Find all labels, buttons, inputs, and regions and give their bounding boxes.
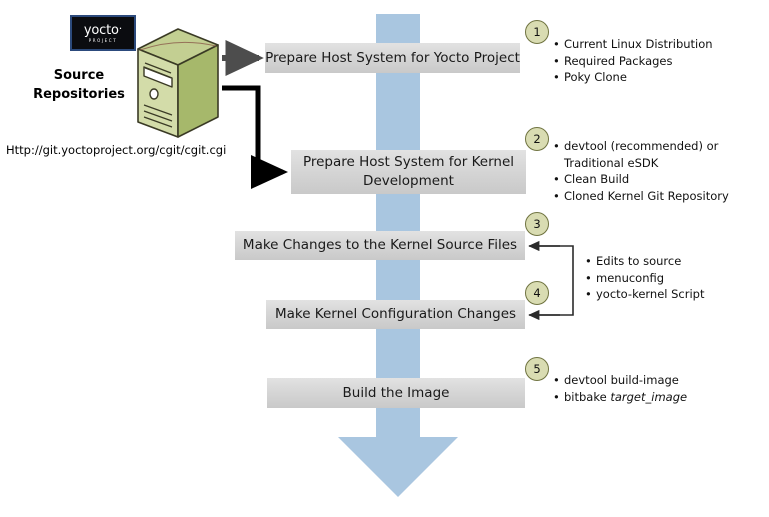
- process-box-make-kernel-config-changes[interactable]: Make Kernel Configuration Changes: [266, 300, 525, 329]
- note-item: devtool (recommended) or Traditional eSD…: [564, 138, 756, 171]
- step-number-4: 4: [525, 281, 549, 305]
- server-tower-icon: [134, 27, 222, 139]
- yocto-logo-subtext: PROJECT: [89, 39, 117, 43]
- note-item: yocto-kernel Script: [596, 286, 763, 303]
- note-command-argument: target_image: [610, 390, 687, 404]
- step-number-2: 2: [525, 127, 549, 151]
- note-item: Current Linux Distribution: [564, 36, 761, 53]
- main-flow-arrow-head: [338, 437, 458, 497]
- process-box-make-kernel-source-changes[interactable]: Make Changes to the Kernel Source Files: [235, 231, 525, 260]
- notes-step-1: Current Linux Distribution Required Pack…: [551, 36, 761, 86]
- notes-list-step-1: Current Linux Distribution Required Pack…: [551, 36, 761, 86]
- source-repositories-label: Source Repositories: [20, 66, 138, 104]
- yocto-logo-dot: ·: [119, 22, 122, 35]
- diagram-canvas: yocto· PROJECT Source Repositories Http:…: [0, 0, 769, 517]
- yocto-logo-wordmark: yocto·: [84, 23, 122, 37]
- main-flow-arrow-shaft: [376, 14, 420, 438]
- process-box-prepare-host-kernel[interactable]: Prepare Host System for Kernel Developme…: [291, 150, 526, 194]
- note-item: Edits to source: [596, 253, 763, 270]
- note-item: devtool build-image: [564, 372, 761, 389]
- note-item: menuconfig: [596, 270, 763, 287]
- note-command: bitbake: [564, 390, 610, 404]
- note-item: Clean Build: [564, 171, 756, 188]
- note-item: Poky Clone: [564, 69, 761, 86]
- step-number-3: 3: [525, 212, 549, 236]
- yocto-logo-text: yocto: [84, 23, 119, 38]
- process-box-build-image[interactable]: Build the Image: [267, 378, 525, 408]
- notes-list-step-2: devtool (recommended) or Traditional eSD…: [551, 138, 756, 204]
- source-repository-url: Http://git.yoctoproject.org/cgit/cgit.cg…: [6, 143, 226, 157]
- notes-steps-3-and-4: Edits to source menuconfig yocto-kernel …: [583, 253, 763, 303]
- source-label-line-1: Source: [20, 66, 138, 85]
- notes-list-step-5: devtool build-image bitbake target_image: [551, 372, 761, 405]
- step-number-5: 5: [525, 357, 549, 381]
- source-label-line-2: Repositories: [20, 85, 138, 104]
- note-item: Required Packages: [564, 53, 761, 70]
- yocto-project-logo: yocto· PROJECT: [70, 15, 136, 51]
- step-number-1: 1: [525, 20, 549, 44]
- notes-step-5: devtool build-image bitbake target_image: [551, 372, 761, 405]
- note-item: Cloned Kernel Git Repository: [564, 188, 756, 205]
- process-box-prepare-host-yocto[interactable]: Prepare Host System for Yocto Project: [265, 43, 520, 73]
- note-item: bitbake target_image: [564, 389, 761, 406]
- notes-step-2: devtool (recommended) or Traditional eSD…: [551, 138, 756, 204]
- notes-list-steps-3-4: Edits to source menuconfig yocto-kernel …: [583, 253, 763, 303]
